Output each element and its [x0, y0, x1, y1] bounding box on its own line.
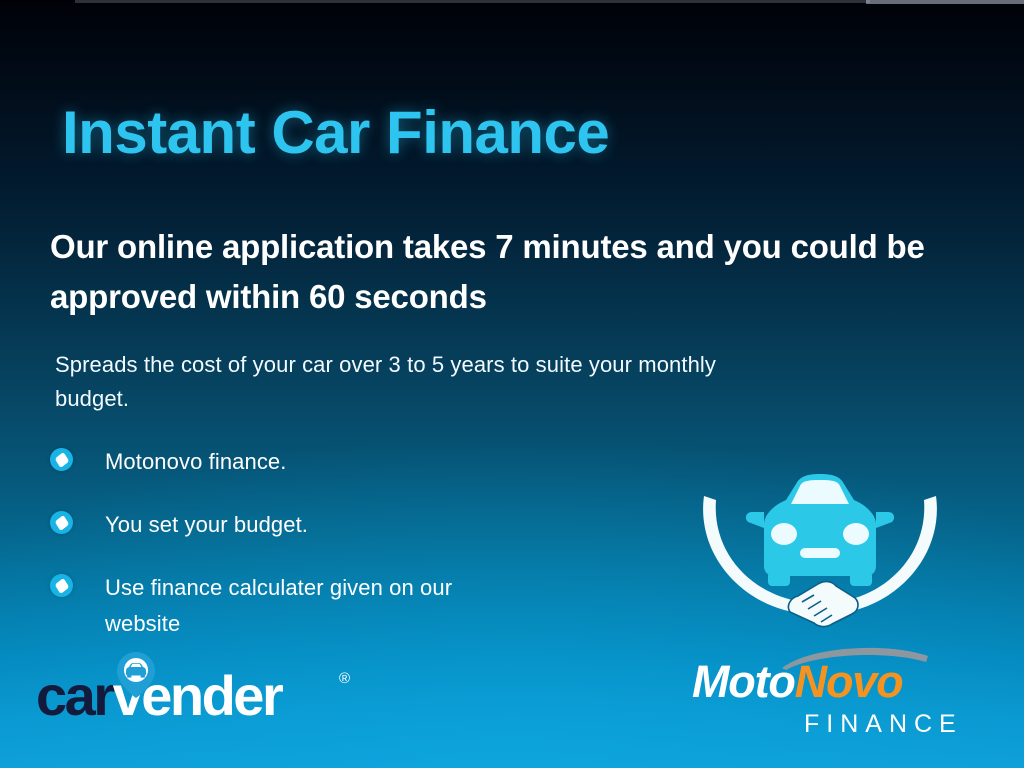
slide-title: Instant Car Finance	[62, 100, 609, 166]
benefits-list: Motonovo finance. You set your budget. U…	[50, 444, 520, 641]
motonovo-word-moto: Moto	[692, 656, 795, 707]
car-handshake-icon	[690, 462, 950, 634]
carvender-word-car: car	[36, 664, 113, 727]
list-item: You set your budget.	[50, 507, 520, 542]
slide-canvas: Instant Car Finance Our online applicati…	[0, 0, 1024, 768]
list-item-label: You set your budget.	[105, 507, 308, 542]
list-item: Use finance calculater given on our webs…	[50, 570, 520, 640]
slide-paragraph: Spreads the cost of your car over 3 to 5…	[55, 348, 795, 416]
carvender-logo: carvender ®	[36, 668, 366, 748]
car-shape	[746, 474, 894, 586]
motonovo-logo: MotoNovo FINANCE	[692, 648, 954, 748]
check-diamond-icon	[50, 448, 73, 471]
motonovo-tagline: FINANCE	[804, 710, 963, 739]
registered-trademark-icon: ®	[339, 670, 350, 687]
map-pin-car-icon	[117, 652, 155, 698]
check-diamond-icon	[50, 511, 73, 534]
list-item-label: Motonovo finance.	[105, 444, 286, 479]
check-diamond-icon	[50, 574, 73, 597]
handshake-shape	[788, 582, 858, 627]
list-item-label: Use finance calculater given on our webs…	[105, 570, 520, 640]
motonovo-word-novo: Novo	[795, 656, 903, 707]
carvender-wordmark: carvender	[36, 668, 281, 724]
list-item: Motonovo finance.	[50, 444, 520, 479]
slide-subheading: Our online application takes 7 minutes a…	[50, 222, 1000, 322]
motonovo-wordmark: MotoNovo	[692, 656, 902, 708]
slide-content: Instant Car Finance Our online applicati…	[0, 0, 1024, 768]
